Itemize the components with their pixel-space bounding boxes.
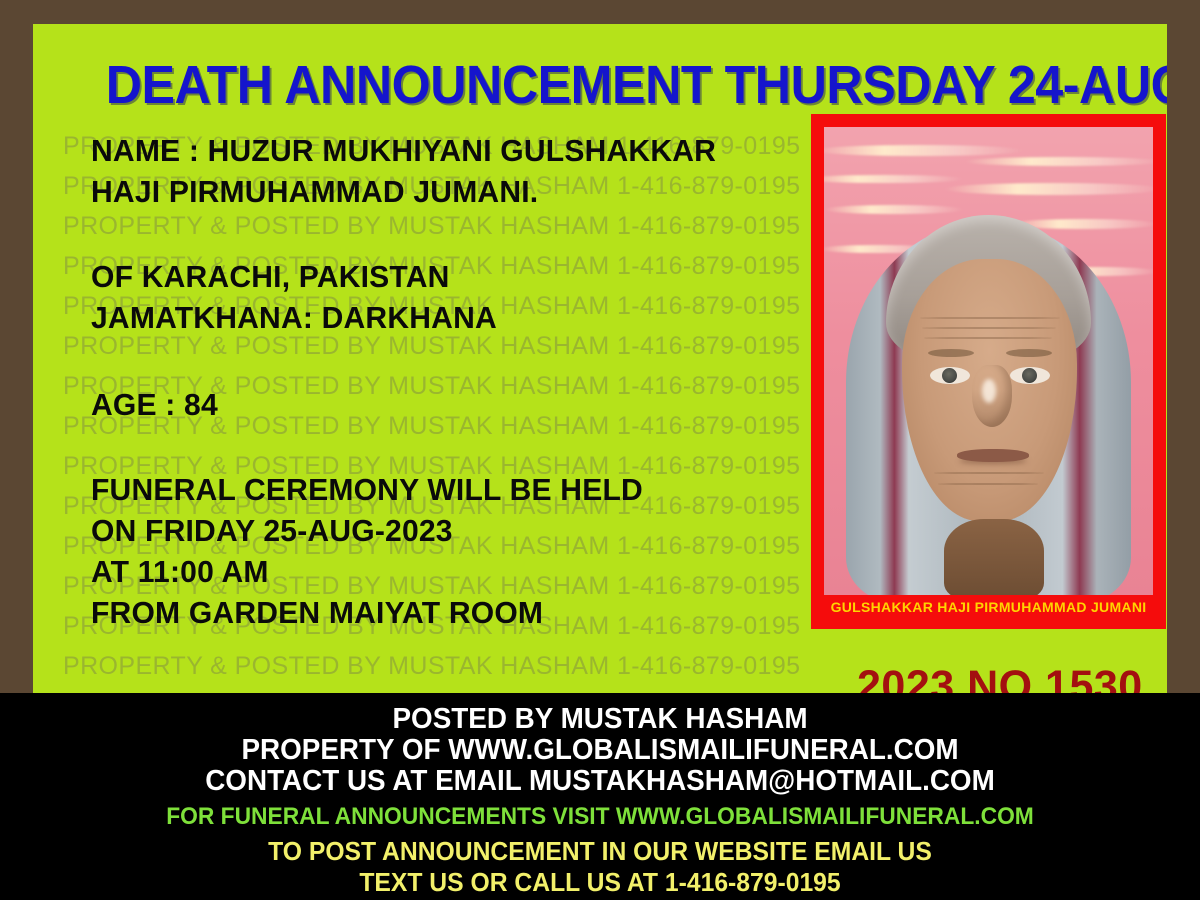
deceased-portrait: [824, 127, 1153, 595]
footer-line-6: TEXT US OR CALL US AT 1-416-879-0195: [30, 867, 1170, 898]
name-line-1: NAME : HUZUR MUKHIYANI GULSHAKKAR: [91, 130, 809, 171]
forehead-wrinkle: [922, 327, 1056, 329]
forehead-wrinkle: [920, 317, 1060, 319]
spacer-1: [91, 212, 831, 256]
footer-line-3: CONTACT US AT EMAIL MUSTAKHASHAM@HOTMAIL…: [24, 766, 1176, 797]
funeral-line-2: ON FRIDAY 25-AUG-2023: [91, 510, 809, 551]
nose-highlight: [982, 379, 996, 403]
cloud-icon: [944, 183, 1153, 195]
iris: [942, 368, 957, 383]
deceased-photo-frame: GULSHAKKAR HAJI PIRMUHAMMAD JUMANI: [811, 114, 1166, 629]
death-announcement-poster: PROPERTY & POSTED BY MUSTAK HASHAM 1-416…: [0, 0, 1200, 900]
watermark-line: PROPERTY & POSTED BY MUSTAK HASHAM 1-416…: [63, 652, 800, 681]
cloud-icon: [824, 145, 1024, 156]
chin-wrinkle: [934, 472, 1044, 474]
page-title: DEATH ANNOUNCEMENT THURSDAY 24-AUG-2023: [106, 54, 1161, 116]
footer-line-1: POSTED BY MUSTAK HASHAM: [24, 693, 1176, 735]
eyebrow-left: [928, 349, 974, 357]
city-line: OF KARACHI, PAKISTAN: [91, 256, 809, 297]
eyebrow-right: [1006, 349, 1052, 357]
cloud-icon: [824, 205, 964, 214]
announcement-details: NAME : HUZUR MUKHIYANI GULSHAKKAR HAJI P…: [91, 130, 831, 633]
neck: [944, 519, 1044, 595]
footer-line-4: FOR FUNERAL ANNOUNCEMENTS VISIT WWW.GLOB…: [30, 802, 1170, 832]
spacer-2: [91, 338, 831, 384]
footer-bar: POSTED BY MUSTAK HASHAM PROPERTY OF WWW.…: [0, 693, 1200, 900]
footer-line-5: TO POST ANNOUNCEMENT IN OUR WEBSITE EMAI…: [30, 836, 1170, 867]
serial-number: 2023 NO.1530: [857, 662, 1143, 693]
footer-line-2: PROPERTY OF WWW.GLOBALISMAILIFUNERAL.COM: [24, 735, 1176, 766]
funeral-line-1: FUNERAL CEREMONY WILL BE HELD: [91, 469, 809, 510]
eye-right: [1010, 367, 1050, 384]
funeral-line-3: AT 11:00 AM: [91, 551, 809, 592]
jamatkhana-line: JAMATKHANA: DARKHANA: [91, 297, 809, 338]
mouth: [957, 449, 1029, 462]
funeral-line-4: FROM GARDEN MAIYAT ROOM: [91, 592, 809, 633]
iris: [1022, 368, 1037, 383]
forehead-wrinkle: [924, 337, 1052, 339]
eye-left: [930, 367, 970, 384]
cloud-icon: [964, 157, 1153, 166]
chin-wrinkle: [938, 483, 1038, 485]
age-line: AGE : 84: [91, 384, 809, 425]
name-line-2: HAJI PIRMUHAMMAD JUMANI.: [91, 171, 809, 212]
photo-caption: GULSHAKKAR HAJI PIRMUHAMMAD JUMANI: [824, 599, 1153, 615]
spacer-3: [91, 425, 831, 469]
